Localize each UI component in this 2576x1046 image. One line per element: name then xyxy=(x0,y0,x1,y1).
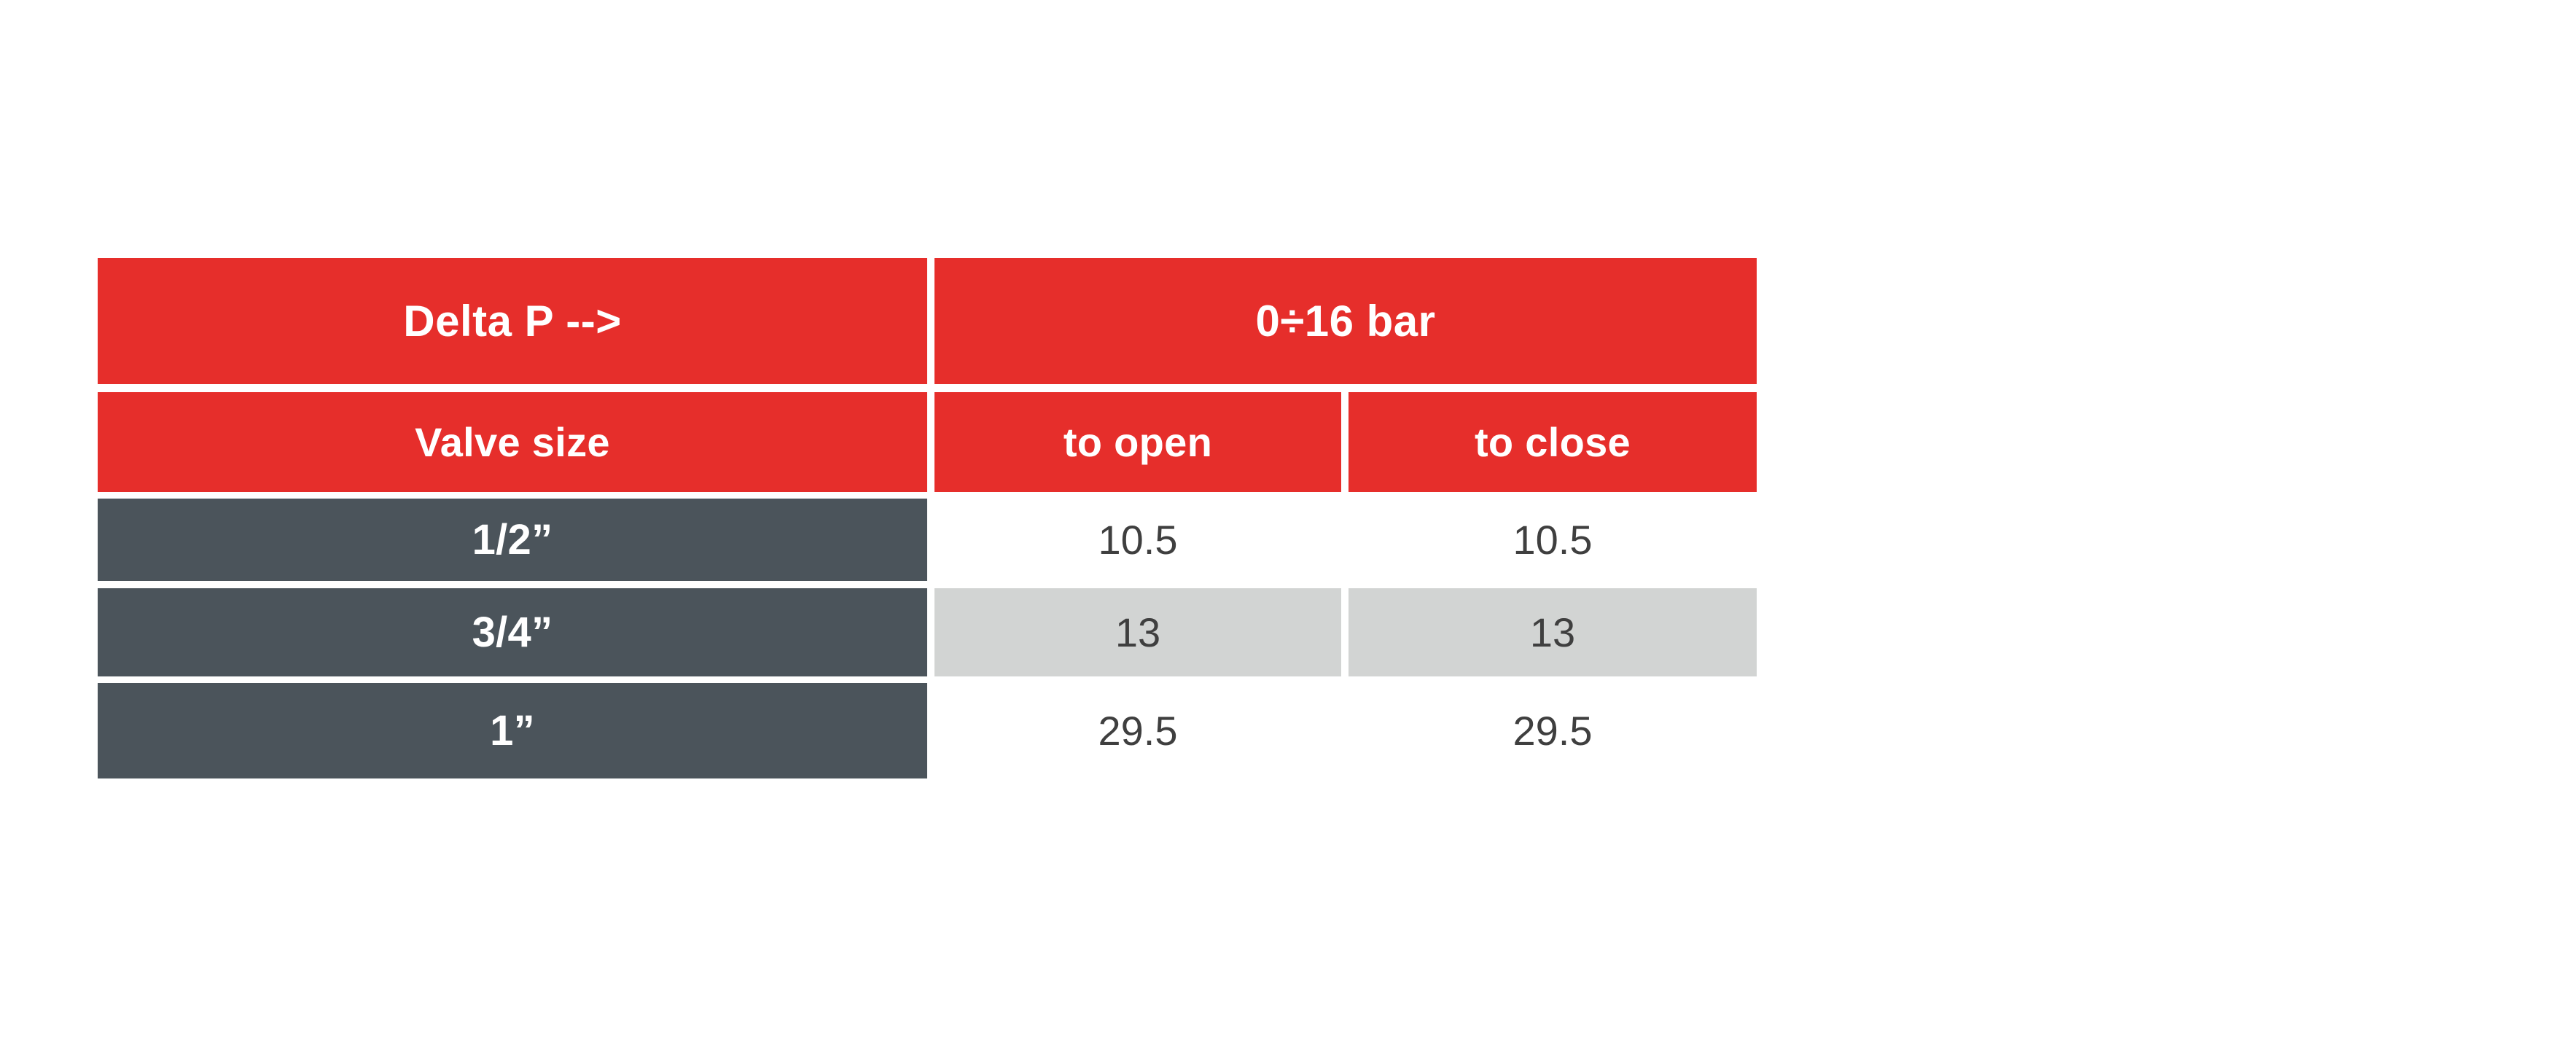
table-row: 3/4” 13 13 xyxy=(98,588,1757,676)
row-label-valve-size: 1” xyxy=(98,683,927,778)
cell-to-open: 13 xyxy=(934,588,1341,676)
cell-to-close: 29.5 xyxy=(1349,683,1757,778)
header-cell-delta-p: Delta P --> xyxy=(98,258,927,384)
cell-to-open: 29.5 xyxy=(934,683,1341,778)
table-header-row-columns: Valve size to open to close xyxy=(98,392,1757,492)
header-cell-to-close: to close xyxy=(1349,392,1757,492)
header-cell-to-open: to open xyxy=(934,392,1341,492)
row-label-valve-size: 1/2” xyxy=(98,499,927,581)
table-row: 1” 29.5 29.5 xyxy=(98,683,1757,778)
table-row: 1/2” 10.5 10.5 xyxy=(98,499,1757,581)
header-cell-valve-size: Valve size xyxy=(98,392,927,492)
table-header-row-delta-p: Delta P --> 0÷16 bar xyxy=(98,258,1757,384)
cell-to-close: 13 xyxy=(1349,588,1757,676)
valve-pressure-table: | 0÷16 bar --> Delta P --> 0÷16 bar Valv… xyxy=(98,258,1757,778)
row-label-valve-size: 3/4” xyxy=(98,588,927,676)
header-cell-pressure-range: 0÷16 bar xyxy=(934,258,1757,384)
cell-to-close: 10.5 xyxy=(1349,499,1757,581)
cell-to-open: 10.5 xyxy=(934,499,1341,581)
